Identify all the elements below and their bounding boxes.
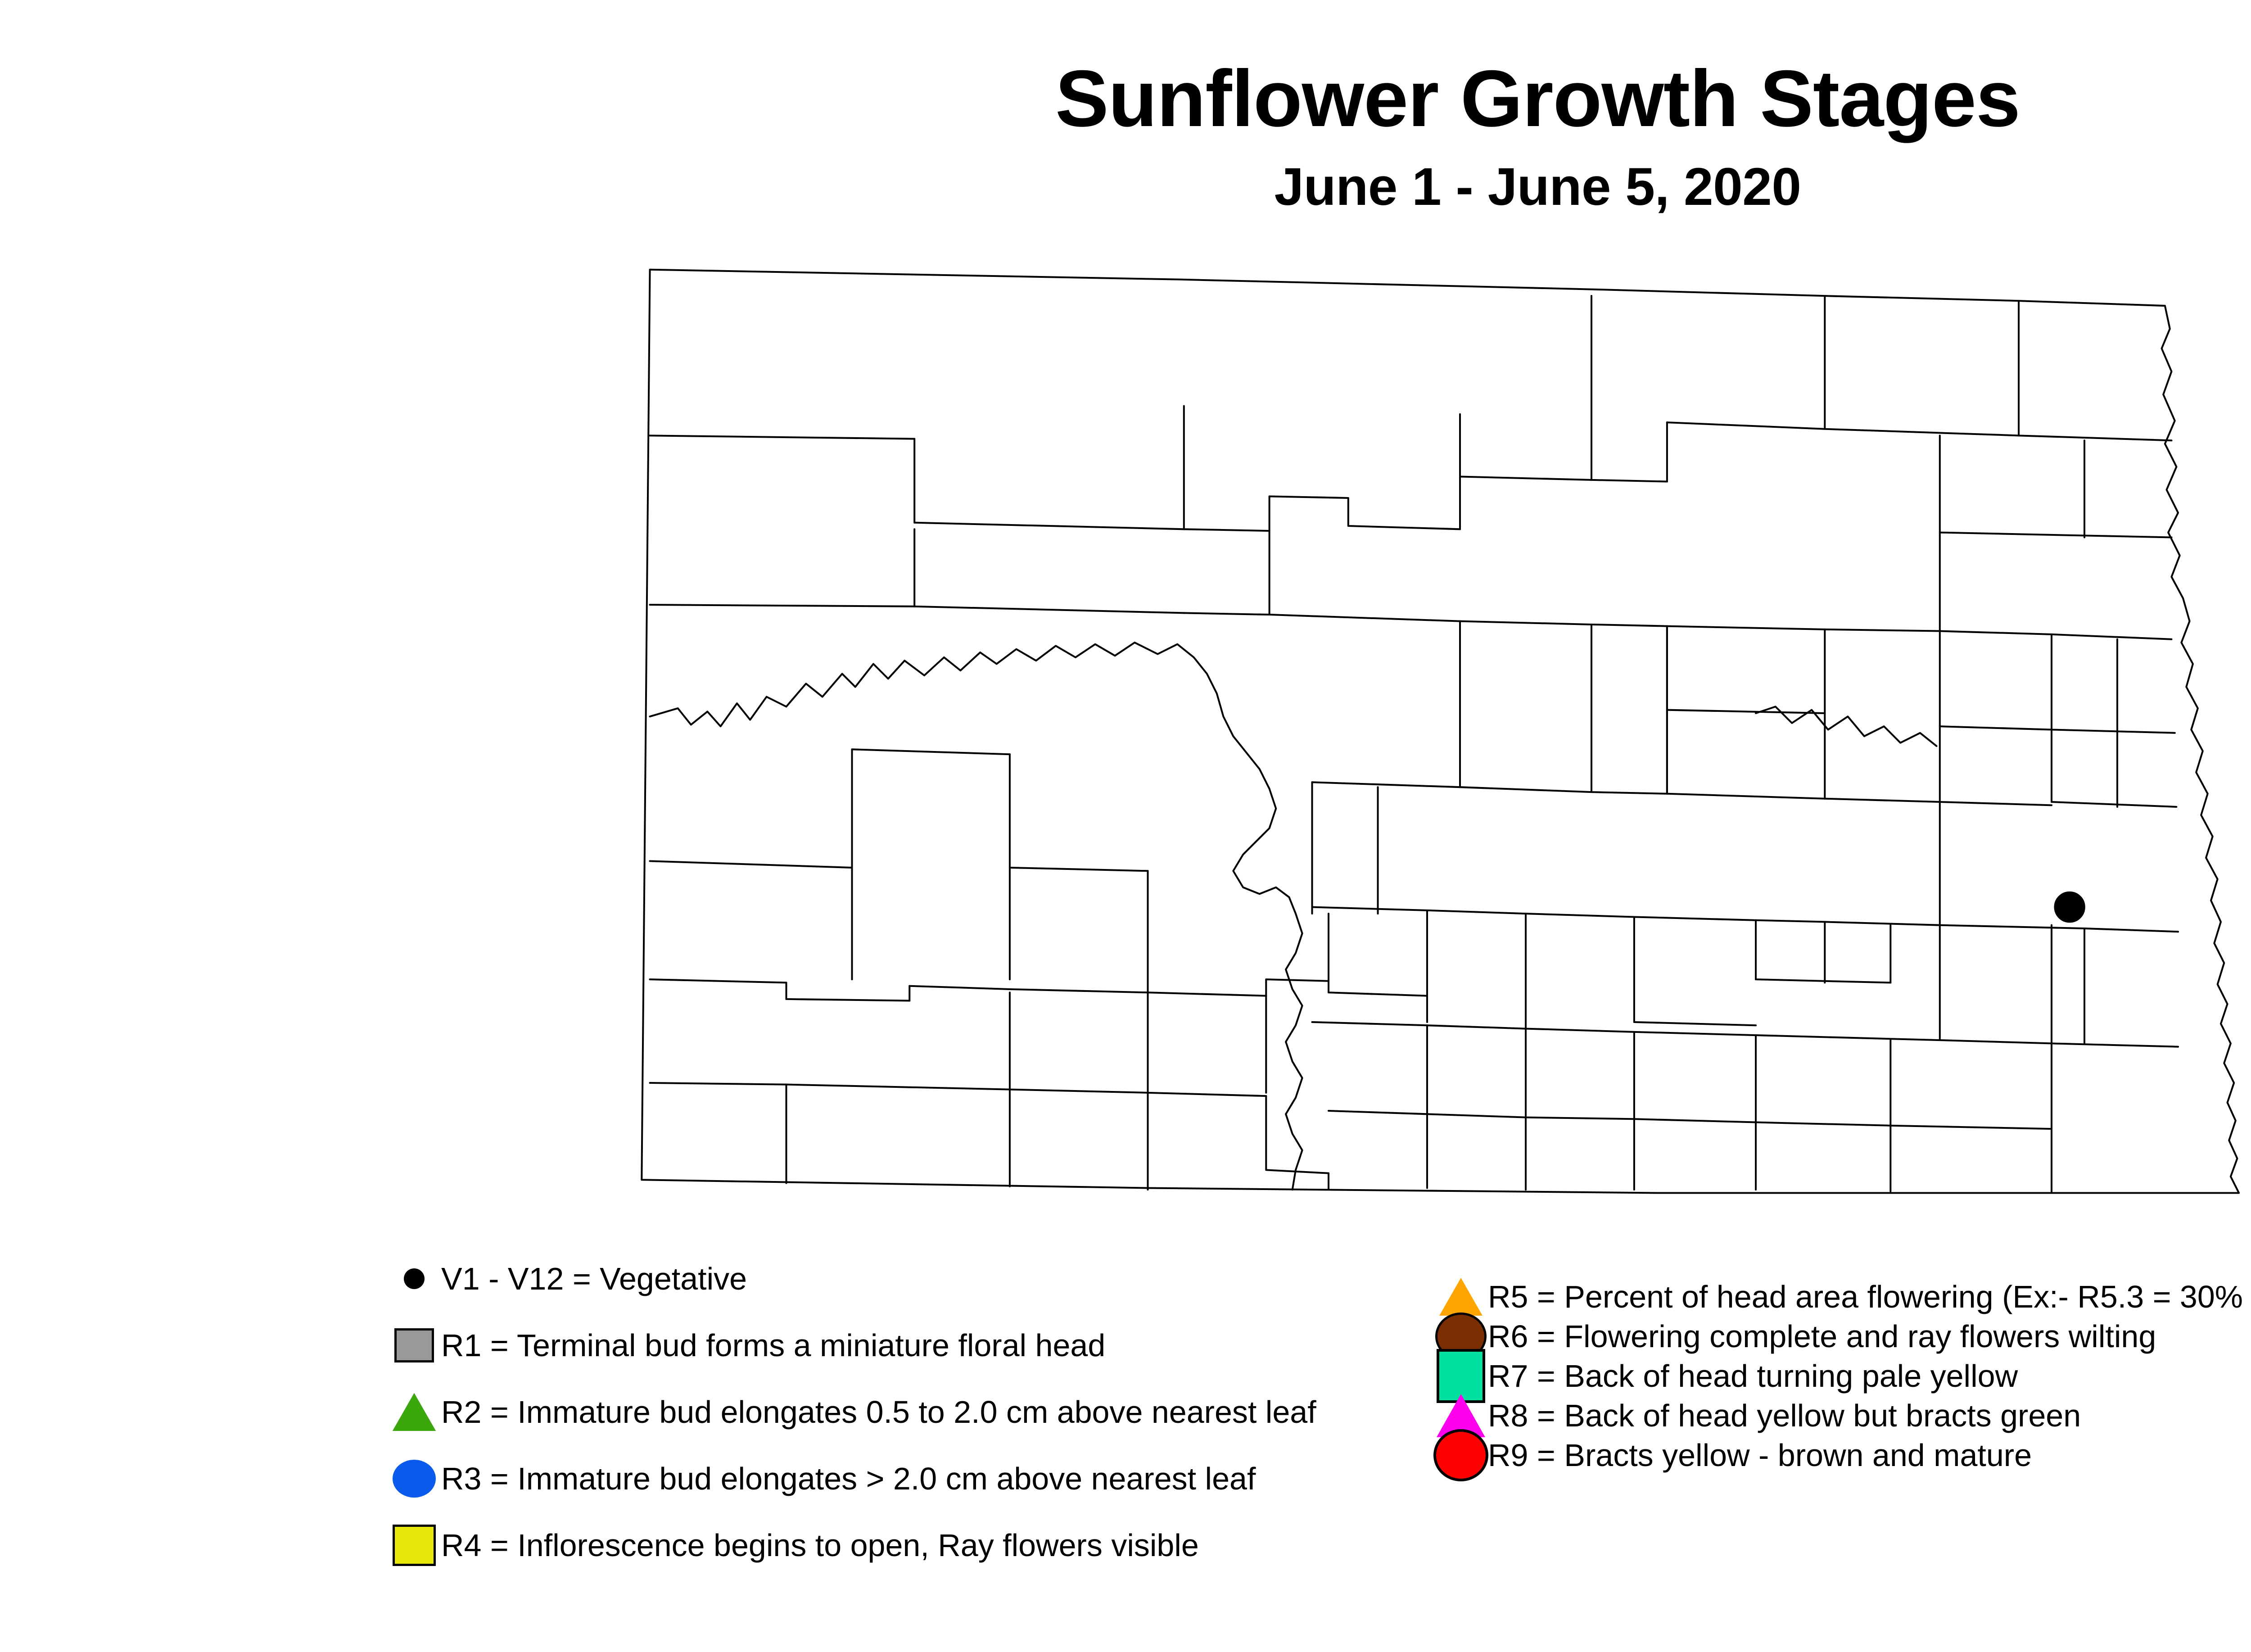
tier2-h <box>1825 629 1939 631</box>
observation-markers <box>2055 892 2084 922</box>
tier-seg-4 <box>1667 422 1825 429</box>
c-tier-b <box>1148 1093 1266 1096</box>
w-tier-f <box>1010 989 1148 992</box>
tier2b-right <box>1940 533 2172 538</box>
lake-sakakawea-north-shore <box>650 643 1296 914</box>
w-tier-g <box>1010 868 1148 871</box>
low-tier-a <box>1329 1111 1890 1126</box>
missouri-river-south <box>1286 914 1302 1190</box>
m3-tier-a <box>1312 907 1940 925</box>
w-tier-b <box>852 749 1010 754</box>
ne-tier-e <box>1940 802 2052 805</box>
tier2-a <box>650 605 915 606</box>
tier-seg-3 <box>1591 480 1667 482</box>
state-outline <box>642 270 2239 1193</box>
legend-marker-circle-icon <box>387 1452 441 1506</box>
tier-line-0a <box>650 435 915 439</box>
ne-tier-d <box>2052 729 2175 733</box>
legend-label-r3: R3 = Immature bud elongates > 2.0 cm abo… <box>441 1463 1256 1494</box>
tier-seg-2 <box>1460 477 1591 480</box>
c-tier-a <box>1148 979 1428 996</box>
tier2-g <box>1667 626 1825 629</box>
legend-label-v: V1 - V12 = Vegetative <box>441 1263 747 1294</box>
m4-tier-c <box>2084 928 2178 932</box>
m4-tier-b <box>1940 925 2084 928</box>
w-tier-c <box>650 979 786 982</box>
low-tier-c <box>2052 1043 2178 1046</box>
low-tier-b <box>1890 1126 2052 1129</box>
small-a <box>1634 1022 1756 1025</box>
nd-map-svg <box>606 250 2249 1204</box>
w-tier-e <box>909 986 1010 989</box>
ne-tier-a <box>1940 631 2172 639</box>
legend-label-r4: R4 = Inflorescence begins to open, Ray f… <box>441 1530 1199 1561</box>
legend-item-r9[interactable]: R9 = Bracts yellow - brown and mature <box>1434 1426 2032 1485</box>
w-tier-j <box>1010 1090 1148 1093</box>
legend-item-r3[interactable]: R3 = Immature bud elongates > 2.0 cm abo… <box>387 1449 1256 1508</box>
tier-seg-5 <box>1825 429 2019 436</box>
north-dakota-county-map <box>606 250 2249 1204</box>
county-borders <box>642 270 2239 1193</box>
m-tier-a <box>1312 782 1940 802</box>
w-tier-i <box>786 1085 1010 1090</box>
ne-tier-c <box>2052 802 2176 807</box>
legend-item-v[interactable]: V1 - V12 = Vegetative <box>387 1249 747 1308</box>
tier2-c <box>1184 613 1270 615</box>
observation-marker-vegetative[interactable] <box>2055 892 2084 922</box>
tier2-b <box>914 606 1184 613</box>
tier2-d <box>1270 615 1460 621</box>
legend-marker-circle-icon <box>387 1252 441 1306</box>
tier-seg-1 <box>1184 496 1460 531</box>
legend-item-r4[interactable]: R4 = Inflorescence begins to open, Ray f… <box>387 1516 1199 1575</box>
legend: V1 - V12 = Vegetative R1 = Terminal bud … <box>0 1249 2251 1583</box>
legend-item-r2[interactable]: R2 = Immature bud elongates 0.5 to 2.0 c… <box>387 1383 1316 1441</box>
tier2-e <box>1460 621 1591 625</box>
legend-label-r9: R9 = Bracts yellow - brown and mature <box>1488 1439 2032 1471</box>
m3-tier-b <box>1756 979 1890 982</box>
legend-item-r1[interactable]: R1 = Terminal bud forms a miniature flor… <box>387 1316 1105 1375</box>
legend-marker-circle-icon <box>1434 1428 1488 1482</box>
legend-label-r1: R1 = Terminal bud forms a miniature flor… <box>441 1330 1105 1361</box>
legend-marker-triangle-icon <box>387 1385 441 1439</box>
page-title: Sunflower Growth Stages <box>0 59 2251 139</box>
w-tier-h <box>650 1083 786 1085</box>
w-tier-a <box>650 861 852 868</box>
uc-tier-a <box>1667 710 1825 713</box>
legend-label-r2: R2 = Immature bud elongates 0.5 to 2.0 c… <box>441 1396 1316 1428</box>
tier-seg-6 <box>2019 435 2171 440</box>
page-subtitle: June 1 - June 5, 2020 <box>0 160 2251 213</box>
tier2-f <box>1591 625 1667 626</box>
w-tier-d <box>786 999 910 1001</box>
ne-tier-b <box>1940 726 2052 729</box>
title-block: Sunflower Growth Stages June 1 - June 5,… <box>0 59 2251 213</box>
legend-marker-square-icon <box>387 1318 441 1372</box>
legend-marker-square-icon <box>387 1518 441 1572</box>
tier-seg-0c <box>914 523 1184 530</box>
